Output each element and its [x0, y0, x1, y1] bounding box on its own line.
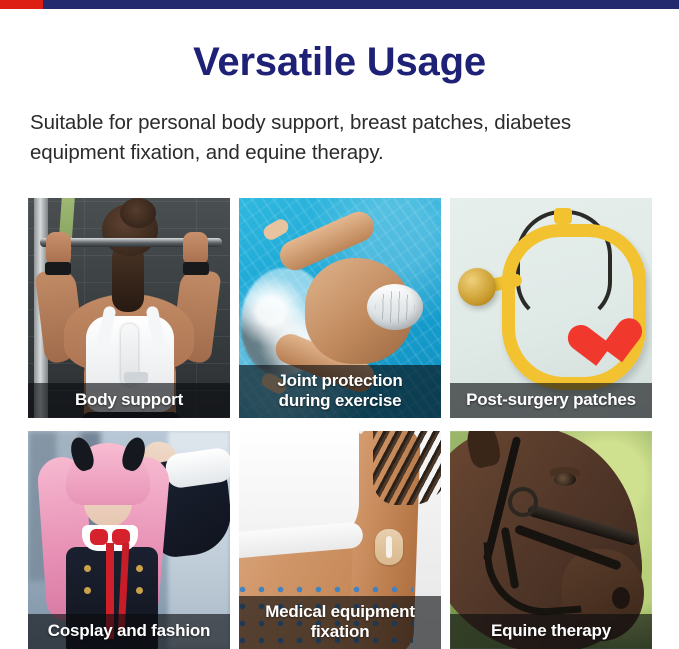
heart-icon [565, 321, 624, 380]
usage-card-medical-equipment-fixation[interactable]: Medical equipment fixation [239, 431, 441, 649]
card-caption: Cosplay and fashion [28, 614, 230, 649]
usage-card-joint-protection[interactable]: Joint protection during exercise [239, 198, 441, 418]
page-subtitle: Suitable for personal body support, brea… [30, 108, 652, 167]
usage-grid: Body support Joint protection during exe… [28, 198, 652, 649]
usage-card-body-support[interactable]: Body support [28, 198, 230, 418]
usage-card-cosplay-and-fashion[interactable]: Cosplay and fashion [28, 431, 230, 649]
page-title: Versatile Usage [0, 42, 679, 82]
accent-bar-red-segment [0, 0, 43, 9]
card-caption: Joint protection during exercise [239, 365, 441, 418]
usage-card-equine-therapy[interactable]: Equine therapy [450, 431, 652, 649]
cat-ears-icon [72, 437, 144, 471]
accent-bar-navy-segment [43, 0, 679, 9]
card-caption: Medical equipment fixation [239, 596, 441, 649]
card-caption: Body support [28, 383, 230, 418]
card-caption: Equine therapy [450, 614, 652, 649]
sensor-patch-icon [375, 529, 403, 565]
card-caption-line-1: Medical equipment [241, 602, 439, 622]
usage-card-post-surgery-patches[interactable]: Post-surgery patches [450, 198, 652, 418]
card-caption-line-2: fixation [241, 622, 439, 642]
card-caption-line-2: during exercise [241, 391, 439, 411]
card-caption-line-1: Joint protection [241, 371, 439, 391]
card-caption: Post-surgery patches [450, 383, 652, 418]
top-accent-bar [0, 0, 679, 9]
